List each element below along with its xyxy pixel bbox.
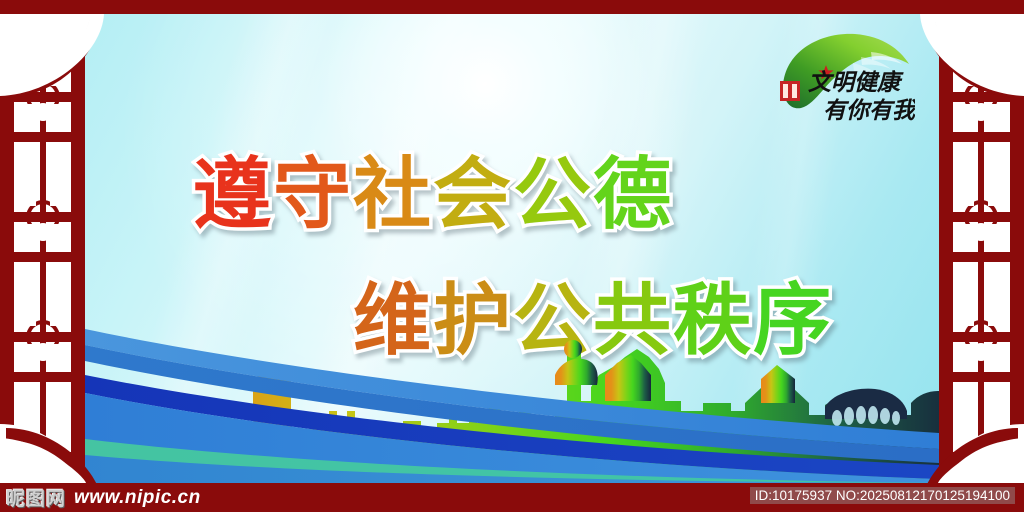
nipic-url: www.nipic.cn (74, 487, 201, 509)
headline-line-1: 遵守社会公德 (85, 132, 939, 244)
headline-char: 社 (353, 132, 433, 244)
image-id-text: ID:10175937 NO:20250812170125194100 (750, 487, 1015, 504)
wave-ribbons (85, 329, 939, 483)
headline-char: 会 (433, 132, 513, 244)
lattice-right-openings (958, 24, 1004, 483)
headline-char: 德 (593, 132, 673, 244)
nipic-logo: 昵图网 (6, 484, 66, 511)
headline-char: 公 (513, 132, 593, 244)
poster-canvas: 遵守社会公德 维护公共秩序 (85, 14, 939, 483)
headline-char: 遵 (193, 132, 273, 244)
scene-waves-skyline (85, 283, 939, 483)
poster-image: 遵守社会公德 维护公共秩序 (0, 0, 1024, 512)
campaign-logo: 文明健康 有你有我 (775, 26, 915, 132)
logo-line-1: 文明健康 (808, 69, 904, 96)
headline-char: 守 (273, 132, 353, 244)
logo-line-2: 有你有我 (823, 98, 915, 124)
lattice-left-openings (20, 24, 66, 483)
lattice-right (953, 14, 1010, 483)
sculpture (555, 340, 598, 385)
lattice-left (14, 14, 71, 483)
watermark-bar: 昵图网 www.nipic.cn ID:10175937 NO:20250812… (0, 483, 1024, 512)
watermark-left-group: 昵图网 www.nipic.cn (0, 483, 201, 512)
